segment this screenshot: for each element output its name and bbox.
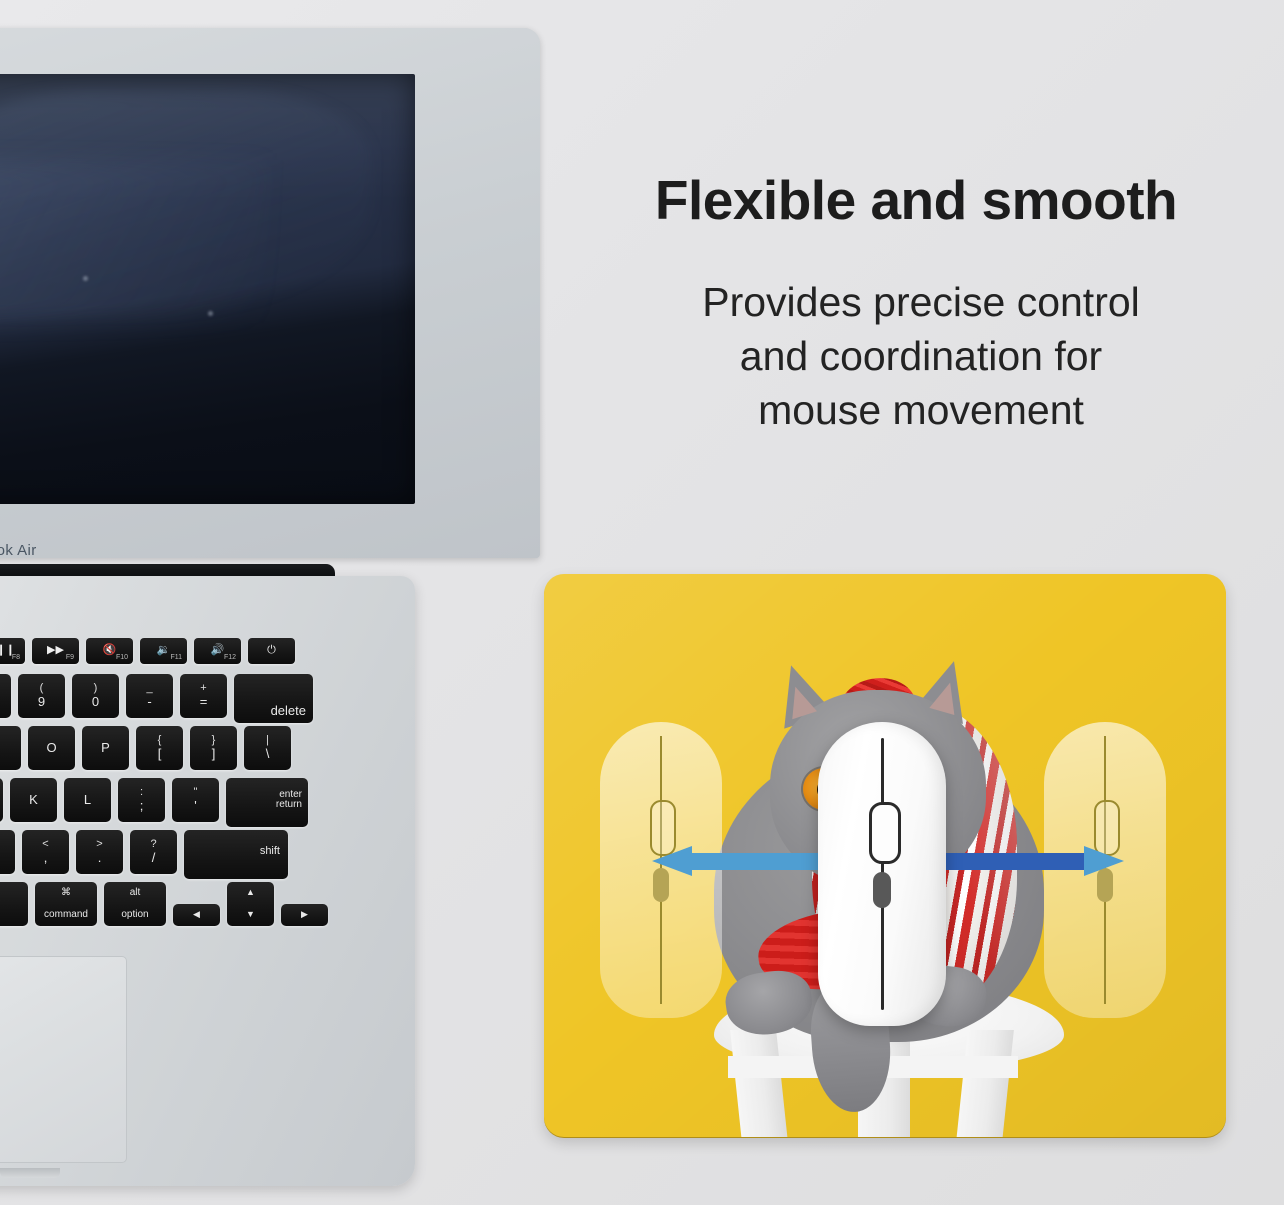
laptop-front-notch [0,1168,60,1178]
key-i[interactable]: I [0,726,21,770]
subtitle-line: and coordination for [636,329,1206,383]
key-enterreturn[interactable]: enterreturn [226,778,308,827]
laptop-keyboard[interactable]: ☀F6◀◀F7▶❙❙F8▶▶F9🔇F10🔉F11🔊F12⏻ ^6&7*8(9)0… [0,584,410,934]
key-upper-label: { [158,735,162,747]
volume-down-key[interactable]: 🔉F11 [140,638,187,664]
key-arrow-down[interactable]: ▼ [246,910,255,919]
keyboard-bottom-row[interactable]: ⌘commandaltoption◀▲▼▶ [0,882,328,926]
key-j[interactable]: J [0,778,3,822]
volume-up-key[interactable]: 🔊F12 [194,638,241,664]
key-label: option [121,910,148,921]
product-marketing-image: MacBook Air ☀F6◀◀F7▶❙❙F8▶▶F9🔇F10🔉F11🔊F12… [0,0,1284,1205]
key-glyph: ▶▶ [47,645,64,657]
key-glyph: ⏻ [267,645,276,657]
key-glyph: 🔊 [211,645,225,657]
key-sym[interactable]: {[ [136,726,183,770]
key-shift[interactable]: shift [184,830,288,879]
subtitle-line: Provides precise control [636,275,1206,329]
key-space[interactable]: ▶ [281,904,328,926]
page-subtitle: Provides precise controland coordination… [636,275,1206,437]
mousepad [544,574,1226,1137]
screen-glare-secondary [0,160,268,323]
key-p[interactable]: P [82,726,129,770]
macbook-brand-label: MacBook Air [0,542,37,559]
key-8[interactable]: *8 [0,674,11,718]
key-label: 9 [38,695,45,709]
key-space[interactable]: ▲▼ [227,882,274,926]
key-label: L [84,793,91,807]
screen-dust-speck [83,276,88,281]
keyboard-letter-row-1[interactable]: YUIOP{[}]|\ [0,726,291,770]
key-upper-label: ( [40,683,44,695]
mute-key[interactable]: 🔇F10 [86,638,133,664]
key-arrow-up[interactable]: ▲ [246,888,255,897]
key-label: shift [260,846,280,858]
macbook-air-laptop: MacBook Air ☀F6◀◀F7▶❙❙F8▶▶F9🔇F10🔉F11🔊F12… [0,28,560,1205]
key-upper-label: < [42,839,48,851]
wireless-mouse[interactable] [818,722,946,1026]
key-label: \ [266,747,270,761]
keyboard-number-row[interactable]: ^6&7*8(9)0_-+=delete [0,674,313,723]
key-upper-label: ? [150,839,156,851]
key-label: 0 [92,695,99,709]
key-label: = [200,695,208,709]
key-sym[interactable]: :; [118,778,165,822]
laptop-screen [0,74,415,504]
fast-forward-key[interactable]: ▶▶F9 [32,638,79,664]
key-=[interactable]: += [180,674,227,718]
trackpad[interactable] [0,956,127,1163]
key-upper-label: ⌘ [61,888,71,899]
key-9[interactable]: (9 [18,674,65,718]
key-upper-label: " [194,787,198,799]
key-space[interactable] [0,882,28,926]
key-upper-label: _ [146,683,152,695]
key-label: return [276,800,302,811]
key-label: K [29,793,38,807]
key-o[interactable]: O [28,726,75,770]
key-label: . [98,851,102,865]
dpi-button[interactable] [873,872,891,908]
scroll-wheel[interactable] [869,802,901,864]
power-key[interactable]: ⏻ [248,638,295,664]
key-glyph: 🔉 [157,645,171,657]
key-m[interactable]: M [0,830,15,874]
key-fn-label: F10 [116,654,128,661]
key-label: delete [271,704,306,718]
key-upper-label: } [212,735,216,747]
key-sym[interactable]: ?/ [130,830,177,874]
key-upper-label: + [200,683,206,695]
keyboard-function-row[interactable]: ☀F6◀◀F7▶❙❙F8▶▶F9🔇F10🔉F11🔊F12⏻ [0,638,295,664]
subtitle-line: mouse movement [636,383,1206,437]
key-k[interactable]: K [10,778,57,822]
key-label: ] [212,747,216,761]
key-upper-label: | [266,735,269,747]
key-command[interactable]: ⌘command [35,882,97,926]
key-label: command [44,910,88,921]
key-fn-label: F8 [12,654,20,661]
page-title: Flexible and smooth [596,168,1236,232]
key-upper-label: ) [94,683,98,695]
key-sym[interactable]: <, [22,830,69,874]
key-altoption[interactable]: altoption [104,882,166,926]
key-label: - [147,695,151,709]
keyboard-letter-row-3[interactable]: BNM<,>.?/shift [0,830,288,879]
key-sym[interactable]: }] [190,726,237,770]
key-label: , [44,851,48,865]
key-label: ◀ [193,910,200,919]
key-fn-label: F11 [170,654,182,661]
arrow-head [652,846,692,876]
key-upper-label: alt [130,888,141,899]
key-label: ▶ [301,910,308,919]
screen-dust-speck [208,311,213,316]
key-upper-label: > [96,839,102,851]
key-sym[interactable]: >. [76,830,123,874]
key-fn-label: F9 [66,654,74,661]
key-fn-label: F12 [224,654,236,661]
key-0[interactable]: )0 [72,674,119,718]
key-glyph: 🔇 [103,645,117,657]
key-sym[interactable]: "' [172,778,219,822]
key-upper-label: : [140,787,143,799]
key-label: / [152,851,156,865]
key--[interactable]: _- [126,674,173,718]
key-label: ' [194,799,196,813]
keyboard-letter-row-2[interactable]: GHJKL:;"'enterreturn [0,778,308,827]
key-l[interactable]: L [64,778,111,822]
key-sym[interactable]: |\ [244,726,291,770]
play-pause-key[interactable]: ▶❙❙F8 [0,638,25,664]
key-delete[interactable]: delete [234,674,313,723]
laptop-lid: MacBook Air [0,28,540,558]
key-label: P [101,741,110,755]
key-label: O [46,741,56,755]
key-label: [ [158,747,162,761]
arrow-head [1084,846,1124,876]
key-label: ; [140,799,144,813]
key-space[interactable]: ◀ [173,904,220,926]
